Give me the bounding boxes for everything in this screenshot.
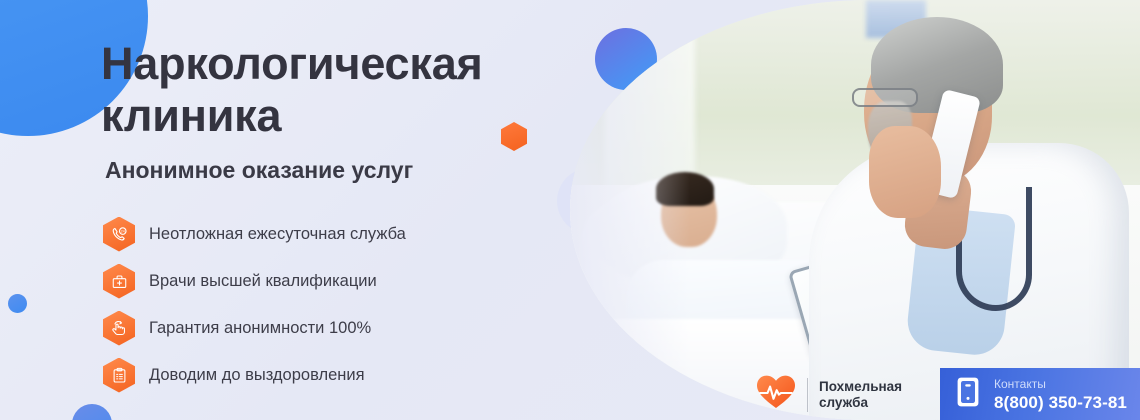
feature-label: Доводим до выздоровления <box>149 366 365 385</box>
photo-left-fade <box>570 0 690 420</box>
photo-backdrop <box>570 0 1140 420</box>
list-item: Гарантия анонимности 100% <box>103 306 531 350</box>
feature-label: Гарантия анонимности 100% <box>149 319 371 338</box>
page-title: Наркологическая клиника <box>101 38 531 142</box>
hand-gesture-icon <box>103 311 135 346</box>
contact-label: Контакты <box>994 377 1046 391</box>
list-item: Врачи высшей квалификации <box>103 259 531 303</box>
brand-name-line-1: Похмельная <box>819 379 902 394</box>
page-title-line-2: клиника <box>101 90 281 141</box>
page-title-line-1: Наркологическая <box>101 38 483 89</box>
photo-doctor-hand <box>869 126 941 218</box>
decorative-dot-left <box>8 294 27 313</box>
brand-name: Похмельная служба <box>819 379 902 411</box>
feature-label: Неотложная ежесуточная служба <box>149 225 406 244</box>
brand-name-line-2: служба <box>819 395 868 410</box>
contact-block[interactable]: Контакты 8(800) 350-73-81 <box>940 368 1140 420</box>
clipboard-checklist-icon <box>103 358 135 393</box>
banner-content: Наркологическая клиника Анонимное оказан… <box>101 38 531 400</box>
clinic-photo <box>570 0 1140 420</box>
contact-phone-number[interactable]: 8(800) 350-73-81 <box>994 393 1127 413</box>
photo-doctor-glasses <box>852 88 918 107</box>
page-subtitle: Анонимное оказание услуг <box>105 156 531 184</box>
contact-text: Контакты 8(800) 350-73-81 <box>994 375 1127 413</box>
feature-list: 24 Неотложная ежесуточная служба Врачи в… <box>103 212 531 397</box>
phone-24h-icon: 24 <box>103 217 135 252</box>
heart-pulse-icon <box>756 374 796 415</box>
svg-text:24: 24 <box>120 229 124 233</box>
clinic-promo-banner: Наркологическая клиника Анонимное оказан… <box>0 0 1140 420</box>
brand-divider <box>807 378 808 412</box>
list-item: 24 Неотложная ежесуточная служба <box>103 212 531 256</box>
mobile-phone-icon <box>956 376 980 413</box>
feature-label: Врачи высшей квалификации <box>149 272 377 291</box>
list-item: Доводим до выздоровления <box>103 353 531 397</box>
brand-logo[interactable]: Похмельная служба <box>756 374 902 415</box>
medical-bag-icon <box>103 264 135 299</box>
